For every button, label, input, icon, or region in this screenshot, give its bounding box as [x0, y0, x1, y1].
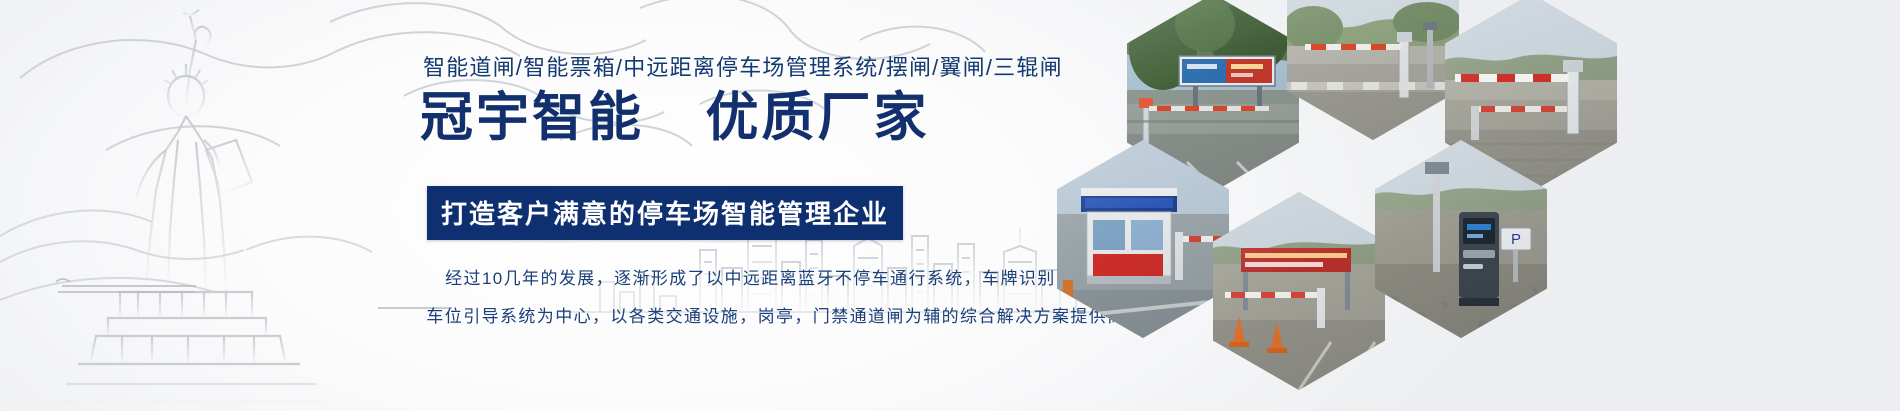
gallery-hex-5[interactable]	[1213, 192, 1385, 390]
hexagon-photo-gallery: P	[1135, 0, 1900, 411]
banner-copy: 智能道闸/智能票箱/中远距离停车场管理系统/摆闸/翼闸/三辊闸 冠宇智能 优质厂…	[0, 0, 1160, 411]
gallery-hex-5-gloss	[1213, 192, 1385, 390]
banner-description: 经过10几年的发展，逐渐形成了以中远距离蓝牙不停车通行系统，车牌识别系统， 车位…	[398, 260, 1158, 336]
headline-claim: 优质厂家	[705, 88, 929, 147]
promo-banner: 智能道闸/智能票箱/中远距离停车场管理系统/摆闸/翼闸/三辊闸 冠宇智能 优质厂…	[0, 0, 1900, 411]
banner-tagline: 智能道闸/智能票箱/中远距离停车场管理系统/摆闸/翼闸/三辊闸	[423, 50, 1063, 82]
banner-ribbon-slogan: 打造客户满意的停车场智能管理企业	[427, 186, 903, 240]
description-line-1: 经过10几年的发展，逐渐形成了以中远距离蓝牙不停车通行系统，车牌识别系统，	[398, 260, 1158, 298]
description-line-2: 车位引导系统为中心，以各类交通设施，岗亭，门禁通道闸为辅的综合解决方案提供商	[394, 298, 1158, 336]
headline-brand: 冠宇智能	[420, 88, 644, 147]
gallery-hex-2[interactable]	[1287, 0, 1459, 140]
gallery-hex-2-gloss	[1287, 0, 1459, 140]
banner-headline: 冠宇智能 优质厂家	[420, 88, 929, 148]
